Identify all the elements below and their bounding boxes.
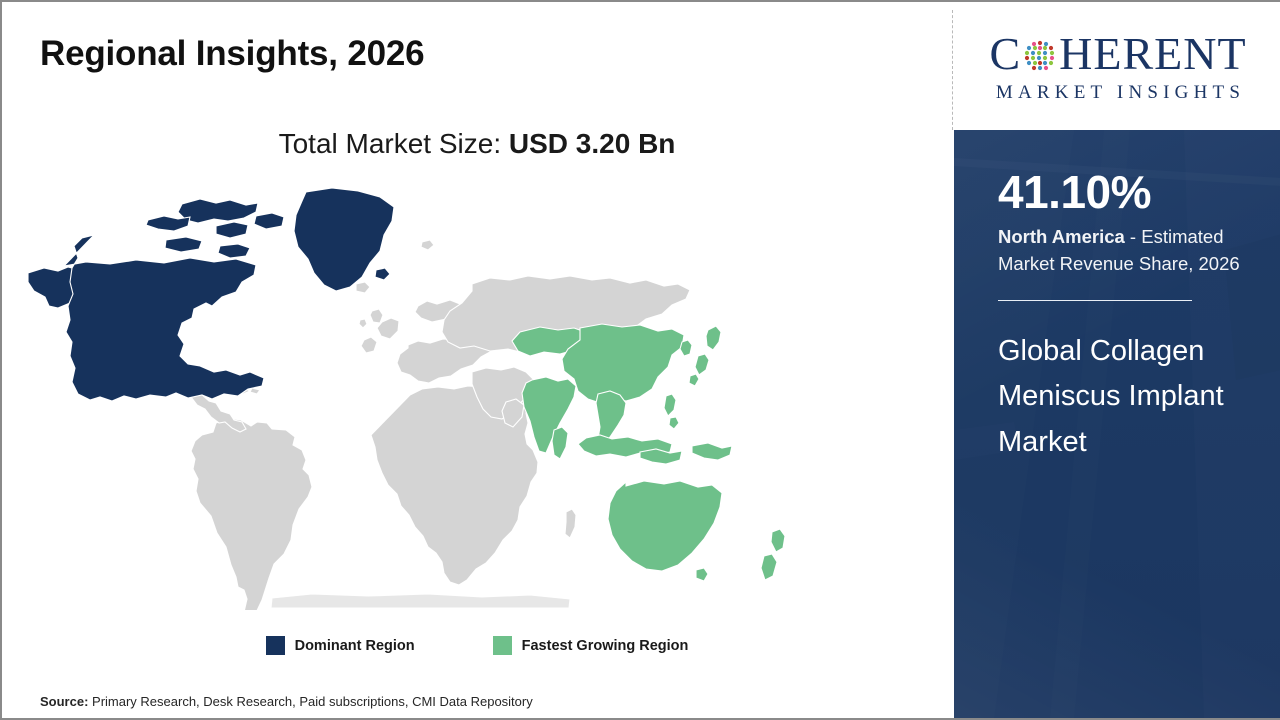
logo-wordmark: C bbox=[989, 28, 1246, 80]
legend-item-label: Dominant Region bbox=[295, 638, 415, 654]
legend-item-dominant: Dominant Region bbox=[266, 636, 415, 655]
total-market-size-label: Total Market Size: bbox=[279, 128, 509, 159]
sidebar-content: 41.10% North America - Estimated Market … bbox=[954, 130, 1280, 465]
stat-region-name: North America bbox=[998, 226, 1125, 247]
map-legend: Dominant Region Fastest Growing Region bbox=[2, 636, 952, 655]
map-region-north-america bbox=[28, 188, 394, 401]
slide-canvas: Regional Insights, 2026 Total Market Siz… bbox=[0, 0, 1280, 720]
map-region-asia-pacific bbox=[512, 324, 785, 581]
panel-divider bbox=[952, 10, 953, 130]
logo-text-pre: C bbox=[989, 31, 1021, 77]
market-title: Global Collagen Meniscus Implant Market bbox=[998, 329, 1248, 465]
source-label: Source: bbox=[40, 694, 88, 709]
legend-square-icon bbox=[493, 636, 512, 655]
legend-square-icon bbox=[266, 636, 285, 655]
legend-item-fastest-growing: Fastest Growing Region bbox=[493, 636, 689, 655]
logo-subtitle: MARKET INSIGHTS bbox=[991, 82, 1245, 104]
stat-value: 41.10% bbox=[998, 168, 1252, 216]
logo-text-post: HERENT bbox=[1059, 31, 1246, 77]
main-content-area: Regional Insights, 2026 Total Market Siz… bbox=[2, 2, 952, 718]
world-map bbox=[20, 180, 900, 610]
page-title: Regional Insights, 2026 bbox=[40, 34, 424, 74]
stat-caption: North America - Estimated Market Revenue… bbox=[998, 224, 1252, 277]
total-market-size: Total Market Size: USD 3.20 Bn bbox=[2, 128, 952, 160]
globe-dots-icon bbox=[1022, 38, 1058, 74]
source-text: Primary Research, Desk Research, Paid su… bbox=[88, 694, 532, 709]
source-note: Source: Primary Research, Desk Research,… bbox=[40, 694, 533, 709]
total-market-size-value: USD 3.20 Bn bbox=[509, 128, 676, 159]
sidebar-divider bbox=[998, 300, 1192, 302]
regional-stat-sidebar: 41.10% North America - Estimated Market … bbox=[954, 130, 1280, 718]
legend-item-label: Fastest Growing Region bbox=[522, 638, 689, 654]
brand-logo: C bbox=[954, 2, 1280, 130]
